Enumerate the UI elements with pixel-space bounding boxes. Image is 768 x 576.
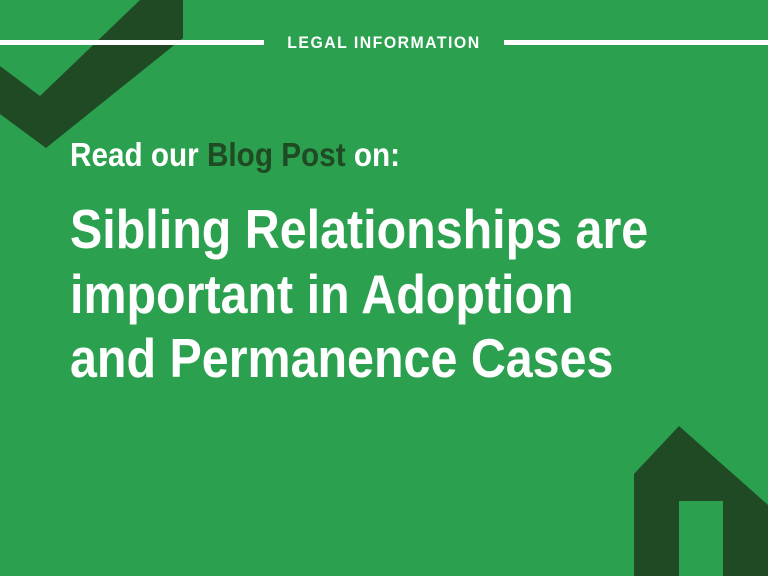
kicker-part-blog-post: Blog Post: [207, 136, 346, 173]
blog-post-banner: LEGAL INFORMATION Read our Blog Post on:…: [0, 0, 768, 576]
headline-line-3: and Permanence Cases: [70, 326, 668, 391]
kicker-part-on: on:: [346, 136, 400, 173]
header-band: LEGAL INFORMATION: [0, 28, 768, 56]
headline-line-2: important in Adoption: [70, 262, 668, 327]
headline-line-1: Sibling Relationships are: [70, 197, 668, 262]
headline: Sibling Relationships are important in A…: [70, 197, 668, 392]
text-block: Read our Blog Post on: Sibling Relations…: [70, 138, 750, 391]
kicker-line: Read our Blog Post on:: [70, 138, 682, 173]
eyebrow-label: LEGAL INFORMATION: [272, 34, 495, 51]
kicker-part-read-our: Read our: [70, 136, 207, 173]
header-rule-left: [0, 40, 264, 45]
chevron-bottom-right-icon: [634, 426, 768, 576]
header-rule-right: [504, 40, 768, 45]
chevron-top-left-icon: [0, 0, 183, 148]
